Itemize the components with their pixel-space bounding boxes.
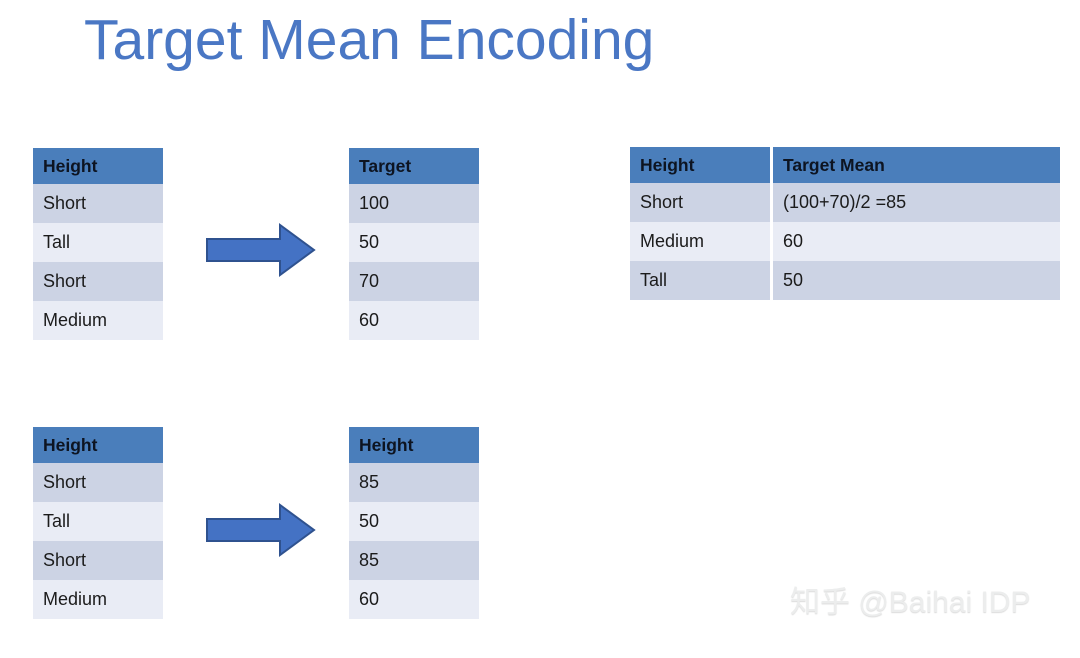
table-header-row: Target [349, 148, 479, 184]
cell-height: Short [33, 184, 163, 223]
table-row: Medium 60 [630, 222, 1060, 261]
cell-height: Medium [33, 301, 163, 340]
table-row: 60 [349, 580, 479, 619]
cell-height: Tall [630, 261, 770, 300]
table-height-bottom: Height Short Tall Short Medium [33, 427, 163, 619]
table-target-mean: Height Target Mean Short (100+70)/2 =85 … [630, 147, 1060, 300]
table-row: Medium [33, 301, 163, 340]
table-row: Tall [33, 223, 163, 262]
cell-height: Medium [33, 580, 163, 619]
watermark: 知乎 @Baihai IDP [790, 585, 1031, 621]
table-row: 50 [349, 502, 479, 541]
cell-encoded-value: 60 [349, 580, 479, 619]
table-row: Medium [33, 580, 163, 619]
cell-height: Short [630, 183, 770, 222]
column-header-height: Height [630, 147, 770, 183]
cell-target-mean: 50 [773, 261, 1060, 300]
cell-height: Tall [33, 223, 163, 262]
column-header-target-mean: Target Mean [773, 147, 1060, 183]
table-row: Tall [33, 502, 163, 541]
column-header-height: Height [349, 427, 479, 463]
cell-height: Medium [630, 222, 770, 261]
cell-height: Short [33, 262, 163, 301]
cell-target: 50 [349, 223, 479, 262]
table-row: 100 [349, 184, 479, 223]
cell-target: 60 [349, 301, 479, 340]
right-arrow-icon [206, 223, 316, 277]
table-row: 60 [349, 301, 479, 340]
cell-target: 100 [349, 184, 479, 223]
column-header-height: Height [33, 148, 163, 184]
cell-encoded-value: 85 [349, 541, 479, 580]
table-header-row: Height Target Mean [630, 147, 1060, 183]
table-row: 85 [349, 541, 479, 580]
table-row: Short (100+70)/2 =85 [630, 183, 1060, 222]
cell-encoded-value: 50 [349, 502, 479, 541]
table-header-row: Height [349, 427, 479, 463]
table-encoded-height: Height 85 50 85 60 [349, 427, 479, 619]
page-title: Target Mean Encoding [84, 2, 654, 78]
table-row: Tall 50 [630, 261, 1060, 300]
cell-height: Short [33, 541, 163, 580]
table-row: Short [33, 184, 163, 223]
cell-height: Short [33, 463, 163, 502]
column-header-target: Target [349, 148, 479, 184]
right-arrow-icon [206, 503, 316, 557]
cell-height: Tall [33, 502, 163, 541]
cell-encoded-value: 85 [349, 463, 479, 502]
table-header-row: Height [33, 427, 163, 463]
table-row: Short [33, 463, 163, 502]
column-header-height: Height [33, 427, 163, 463]
cell-target-mean: 60 [773, 222, 1060, 261]
table-header-row: Height [33, 148, 163, 184]
cell-target-mean: (100+70)/2 =85 [773, 183, 1060, 222]
table-row: 85 [349, 463, 479, 502]
table-row: 70 [349, 262, 479, 301]
table-row: 50 [349, 223, 479, 262]
cell-target: 70 [349, 262, 479, 301]
table-target-top: Target 100 50 70 60 [349, 148, 479, 340]
table-row: Short [33, 262, 163, 301]
table-row: Short [33, 541, 163, 580]
table-height-top: Height Short Tall Short Medium [33, 148, 163, 340]
